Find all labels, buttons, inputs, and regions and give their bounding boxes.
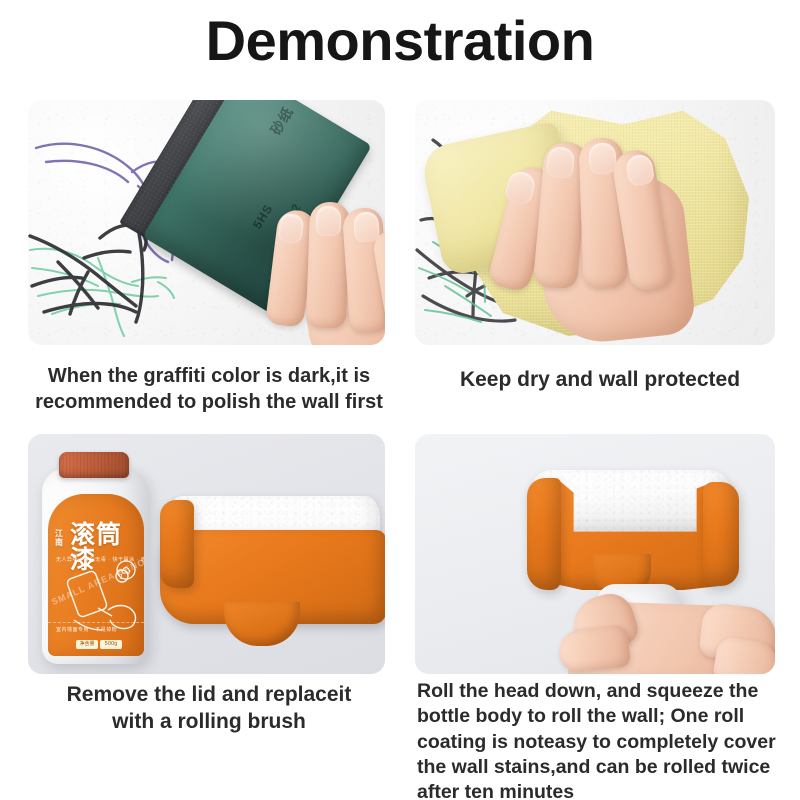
step-3-photo: 江南 滚筒漆 无人异味 · 环保无毒 · 快干易涂 · 遮盖力强 SMALL A…: [28, 434, 385, 674]
fingernail: [588, 143, 616, 175]
fingernail: [316, 206, 341, 236]
roller-end-cap: [160, 500, 194, 588]
label-divider: [48, 622, 144, 623]
hand: [260, 196, 385, 345]
step-4-photo: [415, 434, 775, 674]
rolling-on-wall-scene: [415, 434, 775, 674]
roller-right-ear: [703, 482, 739, 586]
step-2-photo: [415, 100, 775, 345]
step-3-caption: Remove the lid and replaceit with a roll…: [14, 681, 404, 736]
bottle-label: 江南 滚筒漆 无人异味 · 环保无毒 · 快干易涂 · 遮盖力强 SMALL A…: [48, 494, 144, 656]
block-print-label: 砂纸: [266, 103, 299, 139]
label-net-weight-value: 500g: [100, 640, 122, 649]
roller-left-ear: [527, 478, 561, 590]
hand: [493, 124, 693, 340]
fingernail: [277, 213, 304, 245]
label-net-weight: 净含量: [76, 640, 98, 649]
label-badge-icon: [116, 560, 136, 580]
hand: [551, 584, 775, 674]
label-footer: 室内墙面专用 · 不易掉粉: [56, 626, 117, 633]
graffiti-wall-sanding-scene: DETAOC 砂纸 5HS 2 45: [28, 100, 385, 345]
cloth-wiping-scene: [415, 100, 775, 345]
finger: [557, 624, 631, 673]
step-1-caption: When the graffiti color is dark,it is re…: [14, 364, 404, 415]
bottle-and-roller-scene: 江南 滚筒漆 无人异味 · 环保无毒 · 快干易涂 · 遮盖力强 SMALL A…: [28, 434, 385, 674]
label-brand-top: 江南: [55, 530, 67, 548]
page-title: Demonstration: [0, 12, 800, 71]
step-2-caption: Keep dry and wall protected: [408, 367, 792, 394]
bottle-cap: [59, 452, 129, 478]
demonstration-page: Demonstration: [0, 0, 800, 800]
step-4-caption: Roll the head down, and squeeze the bott…: [417, 679, 789, 800]
fingernail: [546, 146, 576, 179]
step-1-photo: DETAOC 砂纸 5HS 2 45: [28, 100, 385, 345]
